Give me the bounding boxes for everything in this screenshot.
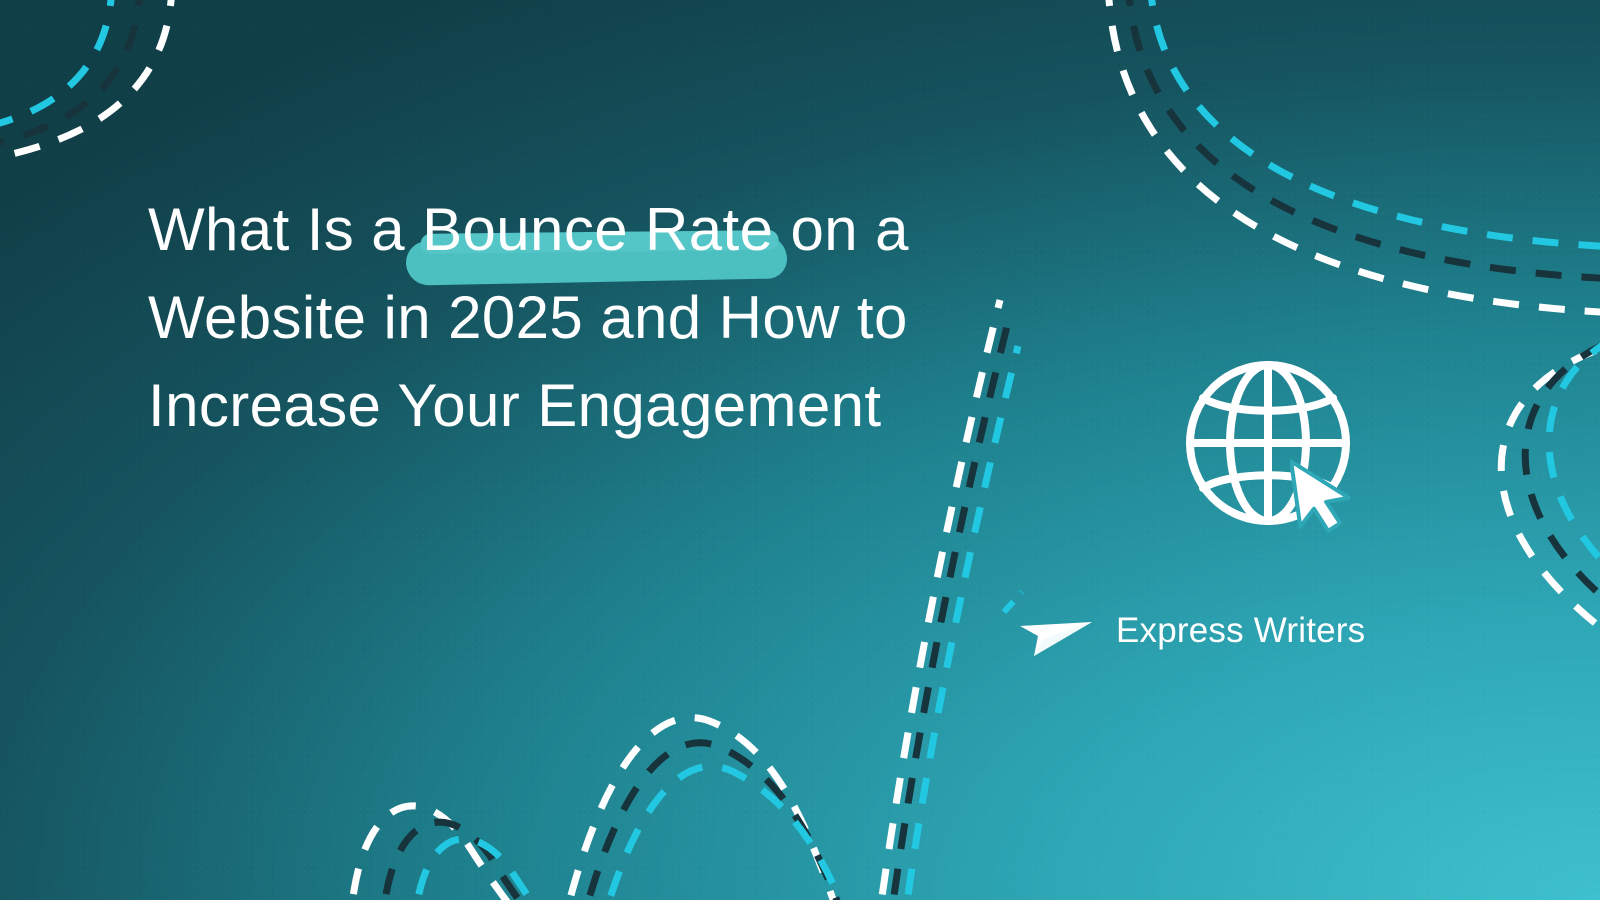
blog-banner-canvas: What Is a Bounce Rate on a Website in 20… (0, 0, 1600, 900)
decorative-dashed-paths (0, 0, 1600, 900)
title-line-2: Website in 2025 and How to (148, 274, 1208, 362)
title-highlight-text: Bounce Rate (422, 196, 773, 263)
paper-plane-arrow-icon (1018, 606, 1094, 656)
brand-logo[interactable]: Express Writers (1018, 606, 1365, 656)
background-texture (0, 0, 1600, 900)
brand-name: Express Writers (1116, 611, 1365, 651)
top-left-arc-group (0, 0, 172, 162)
title-line-1-pre: What Is a (148, 196, 422, 263)
right-edge-arc-group (1501, 322, 1600, 642)
title-highlight-wrap: Bounce Rate (422, 186, 773, 274)
title-line-1: What Is a Bounce Rate on a (148, 186, 1208, 274)
page-title: What Is a Bounce Rate on a Website in 20… (148, 186, 1208, 450)
title-line-3: Increase Your Engagement (148, 362, 1208, 450)
cursor-pointer-icon (1290, 455, 1360, 533)
title-line-1-post: on a (773, 196, 908, 263)
